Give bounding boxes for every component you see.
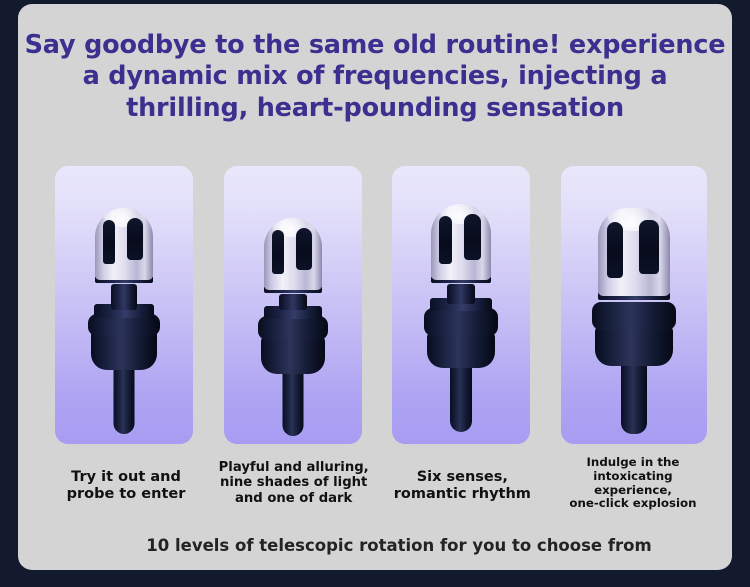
product-panel-4[interactable] (561, 166, 707, 444)
footer-note: 10 levels of telescopic rotation for you… (18, 536, 732, 555)
caption-4-line-3: experience, (553, 484, 713, 498)
panel-caption-1: Try it out and probe to enter (51, 452, 201, 503)
panel-caption-2: Playful and alluring, nine shades of lig… (216, 452, 372, 506)
content-card: Say goodbye to the same old routine! exp… (18, 4, 732, 570)
caption-3-line-1: Six senses, (386, 469, 538, 486)
caption-row: Try it out and probe to enter Playful an… (55, 452, 707, 514)
caption-4-line-1: Indulge in the (553, 456, 713, 470)
product-panel-3[interactable] (392, 166, 530, 444)
panel-caption-4: Indulge in the intoxicating experience, … (553, 452, 713, 511)
product-panel-row (55, 166, 707, 444)
headline-line-3: thrilling, heart-pounding sensation (24, 93, 726, 124)
caption-1-line-1: Try it out and (51, 469, 201, 486)
product-panel-1[interactable] (55, 166, 193, 444)
panel-caption-3: Six senses, romantic rhythm (386, 452, 538, 503)
product-photo-2 (224, 166, 362, 444)
caption-1-line-2: probe to enter (51, 486, 201, 503)
product-panel-2[interactable] (224, 166, 362, 444)
headline: Say goodbye to the same old routine! exp… (18, 30, 732, 124)
product-photo-3 (392, 166, 530, 444)
caption-2-line-3: and one of dark (216, 491, 372, 506)
caption-4-line-2: intoxicating (553, 470, 713, 484)
product-photo-4 (561, 166, 707, 444)
caption-4-line-4: one-click explosion (553, 497, 713, 511)
promo-banner: Say goodbye to the same old routine! exp… (0, 0, 750, 587)
caption-2-line-2: nine shades of light (216, 475, 372, 490)
headline-line-2: a dynamic mix of frequencies, injecting … (24, 61, 726, 92)
headline-line-1: Say goodbye to the same old routine! exp… (24, 30, 726, 61)
product-photo-1 (55, 166, 193, 444)
caption-3-line-2: romantic rhythm (386, 486, 538, 503)
caption-2-line-1: Playful and alluring, (216, 460, 372, 475)
